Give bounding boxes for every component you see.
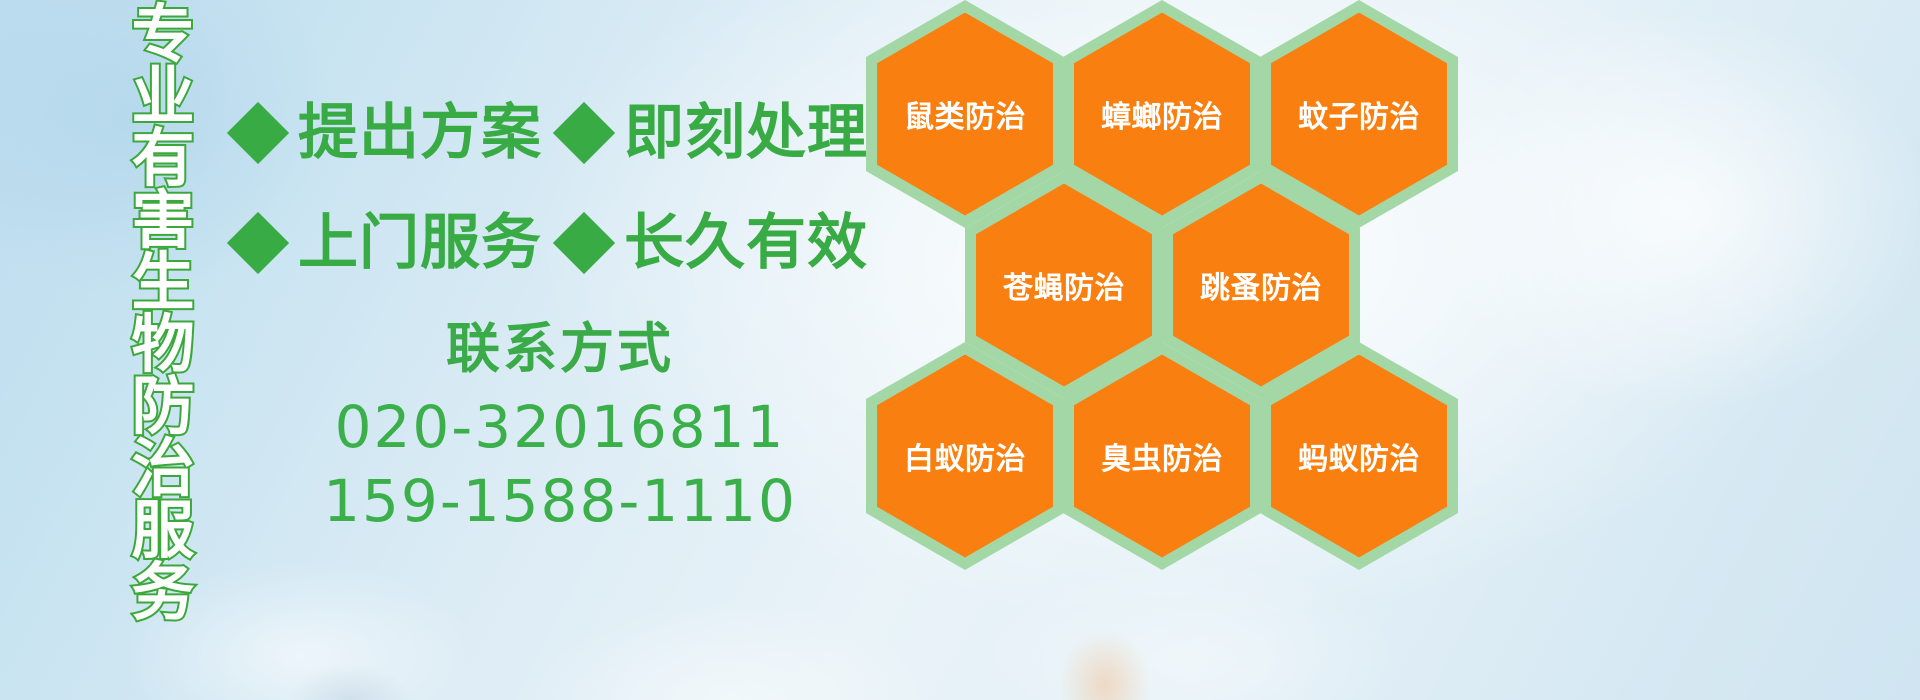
hex-inner: 臭虫防治 bbox=[1074, 355, 1250, 558]
promo-banner: 专 业 有 害 生 物 防 治 服 务 提出方案 即刻处理 上门服务 bbox=[0, 0, 1920, 700]
vertical-headline-char: 害 bbox=[132, 190, 195, 252]
diamond-bullet-icon bbox=[227, 102, 289, 164]
feature-item-propose-plan: 提出方案 bbox=[236, 101, 542, 165]
service-hex-label: 苍蝇防治 bbox=[1003, 263, 1125, 307]
service-hex-label: 跳蚤防治 bbox=[1200, 263, 1322, 307]
service-hex-label: 蚊子防治 bbox=[1298, 92, 1420, 136]
hex-inner: 苍蝇防治 bbox=[976, 184, 1152, 387]
feature-row: 上门服务 长久有效 bbox=[236, 188, 876, 298]
contact-block: 联系方式 020-32016811 159-1588-1110 bbox=[300, 316, 820, 538]
hex-inner: 蚂蚁防治 bbox=[1271, 355, 1447, 558]
feature-label: 提出方案 bbox=[298, 101, 542, 165]
vertical-headline-char: 生 bbox=[132, 252, 195, 314]
hex-inner: 蚊子防治 bbox=[1271, 13, 1447, 216]
background-glow-2 bbox=[520, 600, 940, 700]
feature-row: 提出方案 即刻处理 bbox=[236, 78, 876, 188]
service-hex-label: 白蚁防治 bbox=[904, 434, 1026, 478]
service-hex-label: 鼠类防治 bbox=[904, 92, 1026, 136]
diamond-bullet-icon bbox=[227, 212, 289, 274]
feature-label: 即刻处理 bbox=[624, 101, 868, 165]
feature-item-onsite-service: 上门服务 bbox=[236, 211, 542, 275]
vertical-headline-char: 业 bbox=[132, 66, 195, 128]
service-hex-label: 蚂蚁防治 bbox=[1298, 434, 1420, 478]
vertical-headline-char: 物 bbox=[132, 314, 195, 376]
vertical-headline-char: 治 bbox=[132, 438, 195, 500]
service-hex-label: 臭虫防治 bbox=[1101, 434, 1223, 478]
feature-label: 上门服务 bbox=[298, 211, 542, 275]
feature-label: 长久有效 bbox=[624, 211, 868, 275]
background-warm-shape-2 bbox=[290, 665, 410, 700]
hex-inner: 蟑螂防治 bbox=[1074, 13, 1250, 216]
diamond-bullet-icon bbox=[553, 102, 615, 164]
service-hexagon-grid: 鼠类防治 蟑螂防治 蚊子防治 苍蝇防治 跳蚤防治 白蚁防治 bbox=[862, 0, 1462, 562]
contact-title: 联系方式 bbox=[300, 316, 820, 382]
vertical-headline-char: 有 bbox=[132, 128, 195, 190]
vertical-headline-char: 防 bbox=[132, 376, 195, 438]
diamond-bullet-icon bbox=[553, 212, 615, 274]
service-hex-label: 蟑螂防治 bbox=[1101, 92, 1223, 136]
vertical-headline-char: 服 bbox=[132, 500, 195, 562]
hex-inner: 鼠类防治 bbox=[877, 13, 1053, 216]
background-warm-shape-1 bbox=[1060, 630, 1150, 700]
vertical-headline: 专 业 有 害 生 物 防 治 服 务 bbox=[108, 4, 218, 584]
background-glow-5 bbox=[980, 560, 1400, 700]
vertical-headline-char: 专 bbox=[132, 4, 195, 66]
feature-item-long-lasting: 长久有效 bbox=[562, 211, 868, 275]
vertical-headline-char: 务 bbox=[132, 562, 195, 624]
feature-list: 提出方案 即刻处理 上门服务 长久有效 bbox=[236, 78, 876, 298]
contact-phone-mobile[interactable]: 159-1588-1110 bbox=[300, 464, 820, 538]
hex-inner: 白蚁防治 bbox=[877, 355, 1053, 558]
feature-item-immediate-handling: 即刻处理 bbox=[562, 101, 868, 165]
hex-inner: 跳蚤防治 bbox=[1173, 184, 1349, 387]
contact-phone-landline[interactable]: 020-32016811 bbox=[300, 390, 820, 464]
background-glow-3 bbox=[1420, 0, 1920, 420]
